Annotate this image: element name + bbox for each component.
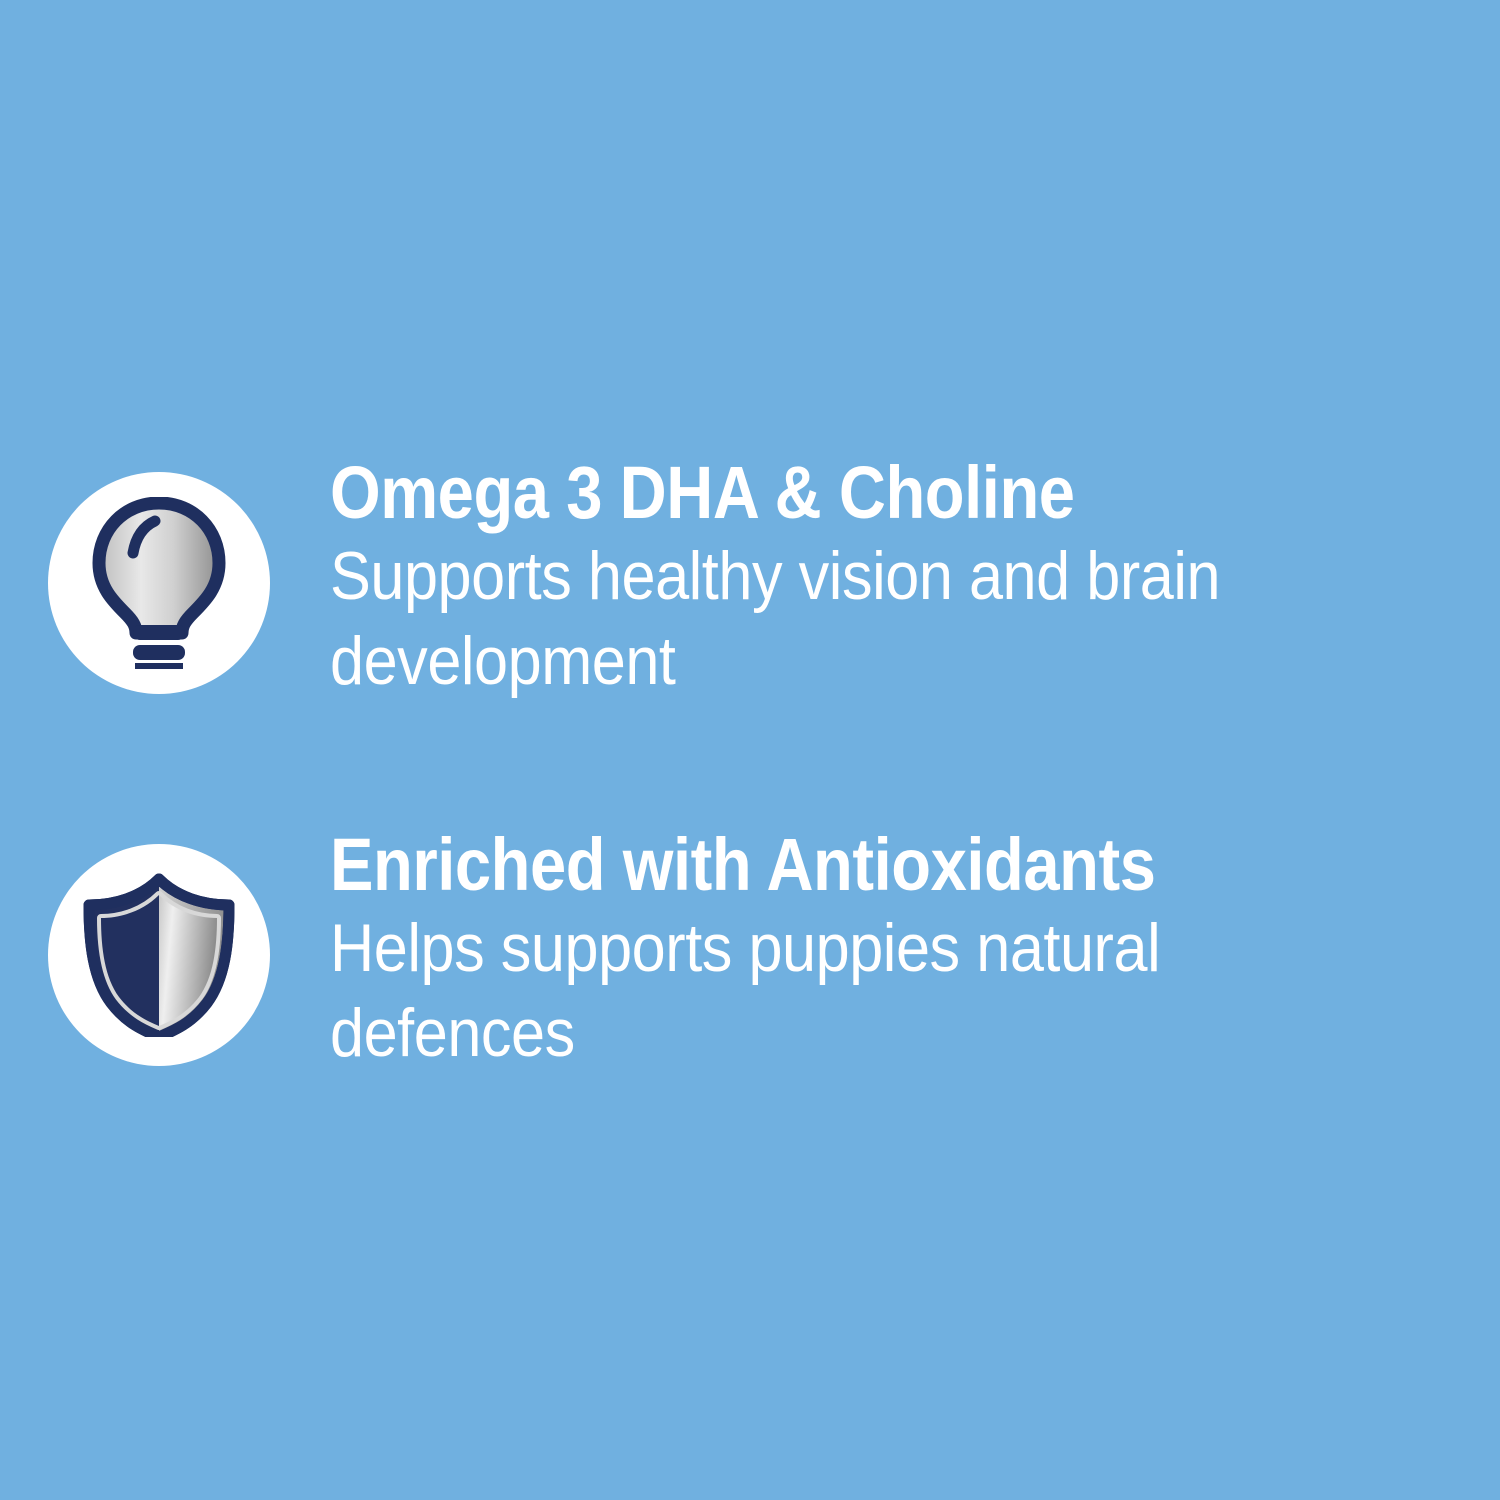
benefit-item-omega-3-dha-choline: Omega 3 DHA & Choline Supports healthy v… (0, 452, 1500, 704)
benefit-text-block: Omega 3 DHA & Choline Supports healthy v… (270, 452, 1500, 704)
benefit-description: Helps supports puppies natural defences (330, 906, 1383, 1076)
benefit-title: Omega 3 DHA & Choline (330, 452, 1360, 534)
benefits-poster: Omega 3 DHA & Choline Supports healthy v… (0, 0, 1500, 1500)
shield-icon-badge (48, 844, 270, 1066)
benefit-title: Enriched with Antioxidants (330, 824, 1360, 906)
lightbulb-icon-badge (48, 472, 270, 694)
benefit-text-block: Enriched with Antioxidants Helps support… (270, 824, 1500, 1076)
benefit-list: Omega 3 DHA & Choline Supports healthy v… (0, 452, 1500, 1076)
shield-icon (79, 873, 239, 1037)
lightbulb-icon (89, 497, 229, 669)
benefit-description: Supports healthy vision and brain develo… (330, 534, 1383, 704)
benefit-item-enriched-with-antioxidants: Enriched with Antioxidants Helps support… (0, 824, 1500, 1076)
